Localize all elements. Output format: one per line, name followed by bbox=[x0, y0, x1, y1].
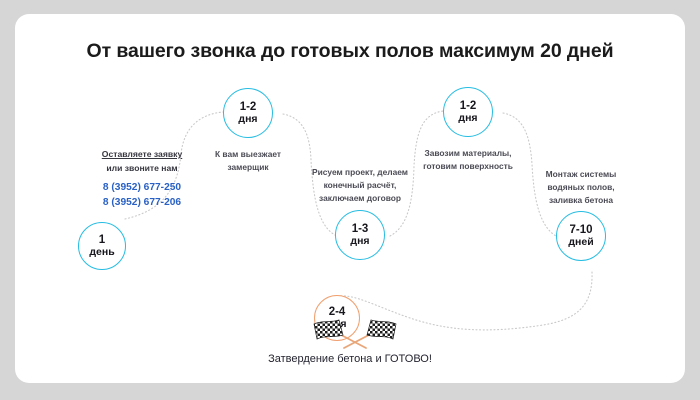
step-3-duration-value: 1-3 bbox=[352, 223, 369, 236]
step-4-duration-unit: дня bbox=[458, 113, 477, 125]
step-1-duration-value: 1 bbox=[99, 234, 105, 247]
step-5-caption: Монтаж системы водяных полов, заливка бе… bbox=[511, 168, 651, 206]
step-5-caption-line-3: заливка бетона bbox=[511, 194, 651, 207]
step-3-duration-unit: дня bbox=[350, 236, 369, 248]
step-node-2[interactable]: 1-2 дня bbox=[223, 88, 273, 138]
step-2-duration-value: 1-2 bbox=[240, 101, 257, 114]
step-5-duration-unit: дней bbox=[568, 237, 593, 249]
step-1-duration-unit: день bbox=[89, 247, 114, 259]
step-5-caption-line-1: Монтаж системы bbox=[511, 168, 651, 181]
step-node-1[interactable]: 1 день bbox=[78, 222, 126, 270]
step-2-duration-unit: дня bbox=[238, 114, 257, 126]
step-2-caption-line-1: К вам выезжает bbox=[183, 148, 313, 161]
finish-caption: Затвердение бетона и ГОТОВО! bbox=[15, 353, 685, 365]
checkered-flag-icon bbox=[310, 316, 400, 352]
page-title: От вашего звонка до готовых полов максим… bbox=[15, 40, 685, 63]
step-4-duration-value: 1-2 bbox=[460, 100, 477, 113]
step-5-caption-line-2: водяных полов, bbox=[511, 181, 651, 194]
step-node-4[interactable]: 1-2 дня bbox=[443, 87, 493, 137]
infographic-card: От вашего звонка до готовых полов максим… bbox=[15, 14, 685, 383]
step-node-5[interactable]: 7-10 дней bbox=[556, 211, 606, 261]
phone-number-2[interactable]: 8 (3952) 677-206 bbox=[77, 195, 207, 210]
step-3-caption-line-2: конечный расчёт, bbox=[290, 179, 430, 192]
infographic-root: От вашего звонка до готовых полов максим… bbox=[0, 0, 700, 400]
step-node-3[interactable]: 1-3 дня bbox=[335, 210, 385, 260]
step-3-caption-line-3: заключаем договор bbox=[290, 192, 430, 205]
step-4-caption-line-1: Завозим материалы, bbox=[398, 147, 538, 160]
phone-number-1[interactable]: 8 (3952) 677-250 bbox=[77, 180, 207, 195]
step-5-duration-value: 7-10 bbox=[569, 224, 592, 237]
